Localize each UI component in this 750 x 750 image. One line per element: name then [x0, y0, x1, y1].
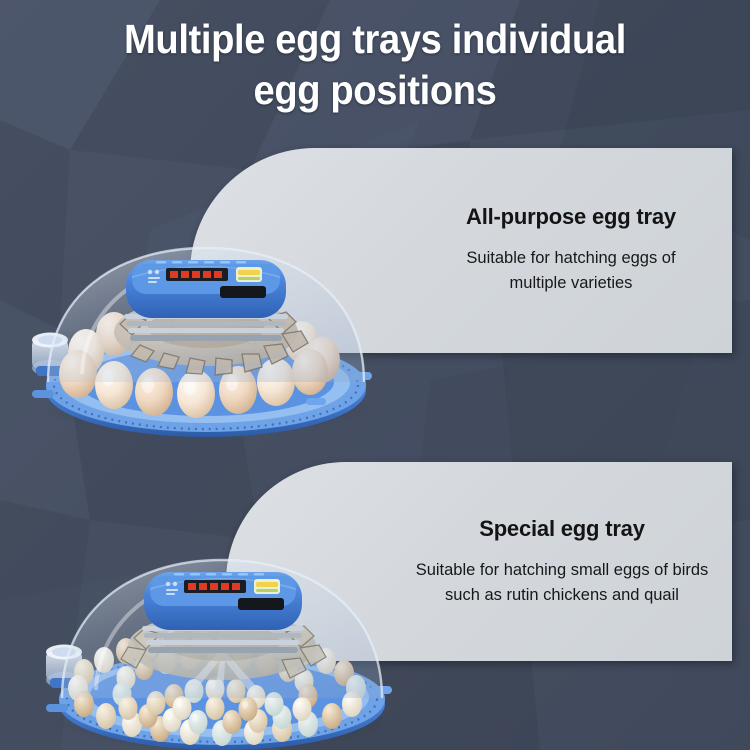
- status-indicator-icon-2: [254, 579, 280, 594]
- card-1-body-line-2: multiple varieties: [422, 271, 720, 296]
- card-2-body-line-1: Suitable for hatching small eggs of bird…: [402, 558, 722, 583]
- card-2-text: Special egg tray Suitable for hatching s…: [402, 516, 722, 608]
- egg-incubator-special-image: [22, 528, 422, 750]
- card-2-body-line-2: such as rutin chickens and quail: [402, 583, 722, 608]
- egg-incubator-all-purpose-image: [6, 222, 406, 437]
- led-digits-2: [188, 583, 240, 590]
- card-1-body-line-1: Suitable for hatching eggs of: [422, 246, 720, 271]
- title-line-1: Multiple egg trays individual: [26, 14, 724, 65]
- control-button-strip[interactable]: [220, 286, 266, 298]
- card-2-heading: Special egg tray: [402, 516, 722, 542]
- card-1-text: All-purpose egg tray Suitable for hatchi…: [422, 204, 720, 296]
- control-button-strip-2[interactable]: [238, 598, 284, 610]
- led-digits: [170, 271, 222, 278]
- control-unit[interactable]: [126, 260, 286, 318]
- status-indicator-icon: [236, 267, 262, 282]
- title-line-2: egg positions: [26, 65, 724, 116]
- product-feature-poster: Multiple egg trays individual egg positi…: [0, 0, 750, 750]
- card-1-heading: All-purpose egg tray: [422, 204, 720, 230]
- control-unit-2[interactable]: [144, 572, 302, 630]
- poster-title: Multiple egg trays individual egg positi…: [0, 14, 750, 116]
